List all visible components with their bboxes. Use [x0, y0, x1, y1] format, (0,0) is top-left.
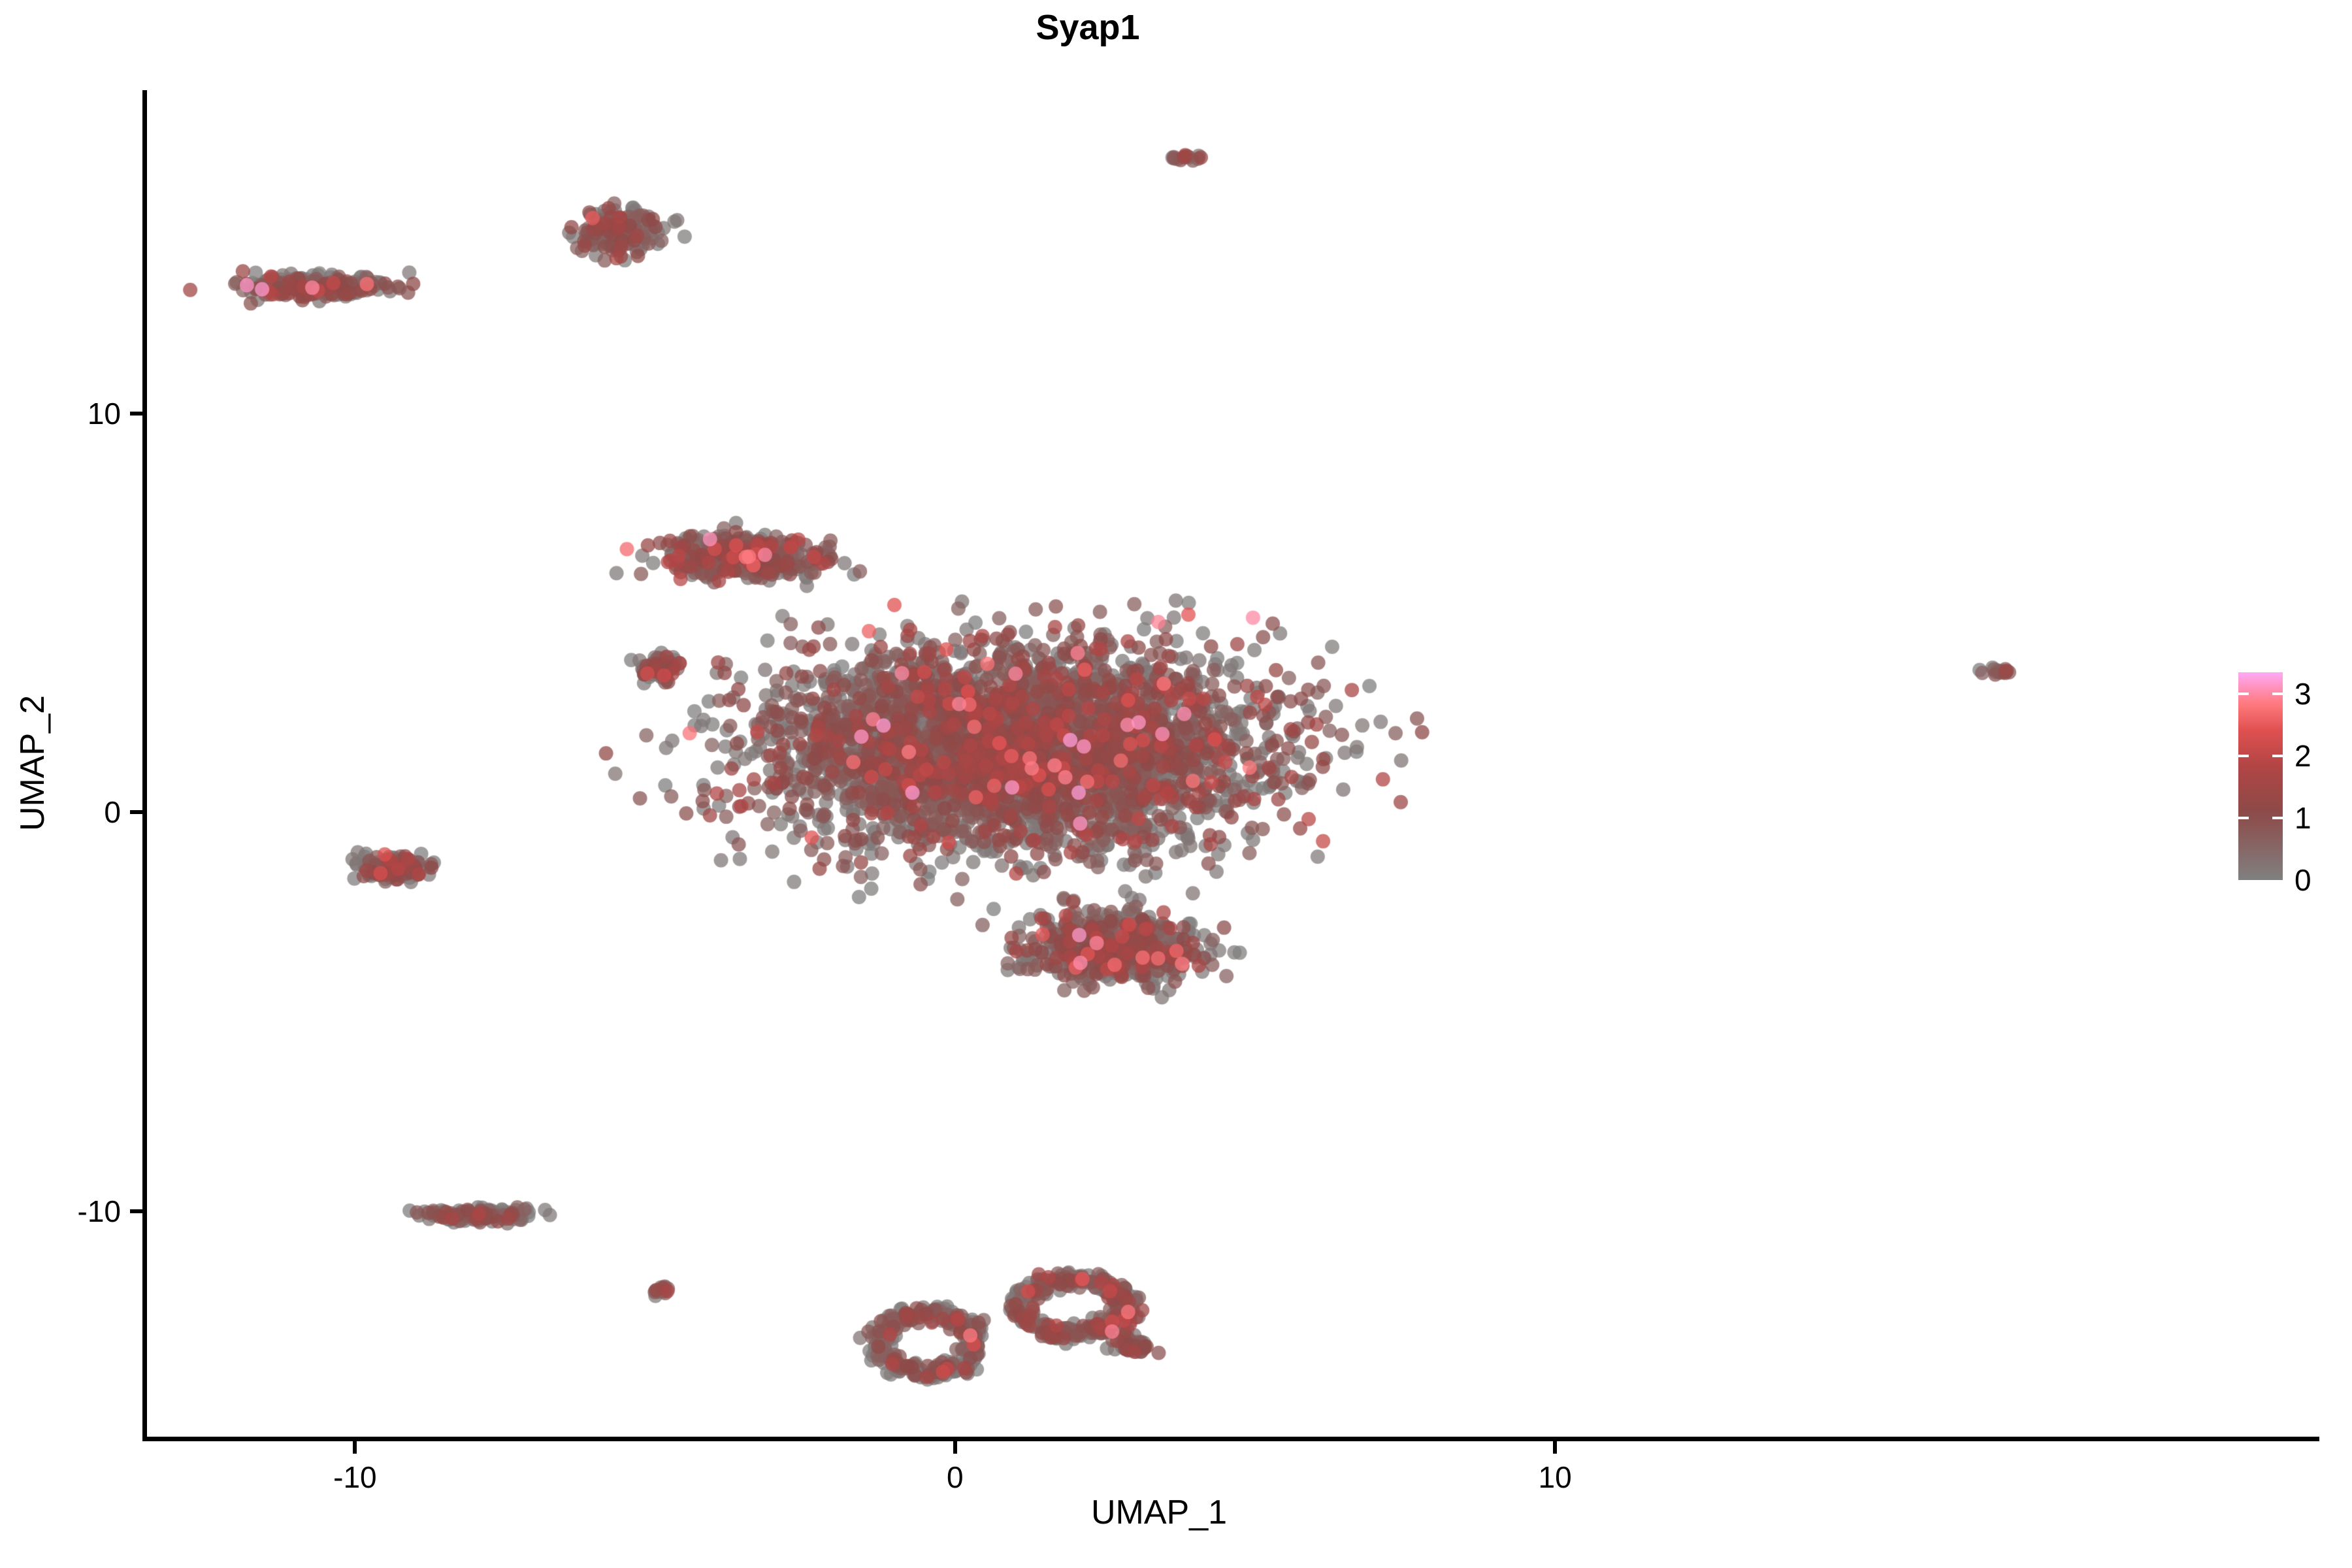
- legend-tick-mark: [2238, 817, 2249, 819]
- legend-tick-mark: [2272, 755, 2283, 757]
- legend-tick-mark: [2238, 693, 2249, 695]
- feature-plot: Syap1 -10010 -10010 UMAP_1 UMAP_2 0123: [0, 0, 2352, 1568]
- x-tick-label: 0: [857, 1462, 1053, 1492]
- y-tick-mark: [130, 412, 142, 416]
- legend-tick-label: 0: [2295, 865, 2311, 895]
- legend-tick-label: 1: [2295, 803, 2311, 833]
- x-tick-mark: [1553, 1441, 1557, 1454]
- legend-colorbar: [2238, 672, 2283, 880]
- legend-tick-label: 2: [2295, 741, 2311, 771]
- y-axis-title: UMAP_2: [13, 44, 52, 1482]
- legend-tick-label: 3: [2295, 679, 2311, 709]
- legend-tick-mark: [2238, 755, 2249, 757]
- page-title: Syap1: [0, 7, 2176, 48]
- y-tick-mark: [130, 810, 142, 814]
- legend-tick-mark: [2272, 693, 2283, 695]
- x-axis-line: [142, 1437, 2319, 1441]
- x-axis-title: UMAP_1: [145, 1493, 2173, 1532]
- legend-tick-mark: [2272, 817, 2283, 819]
- y-tick-mark: [130, 1209, 142, 1213]
- color-legend: 0123: [2238, 672, 2343, 888]
- scatter-points-canvas: [145, 90, 2173, 1439]
- x-tick-mark: [353, 1441, 357, 1454]
- x-tick-label: 10: [1457, 1462, 1653, 1492]
- x-tick-label: -10: [257, 1462, 453, 1492]
- y-axis-line: [142, 90, 147, 1441]
- x-tick-mark: [953, 1441, 957, 1454]
